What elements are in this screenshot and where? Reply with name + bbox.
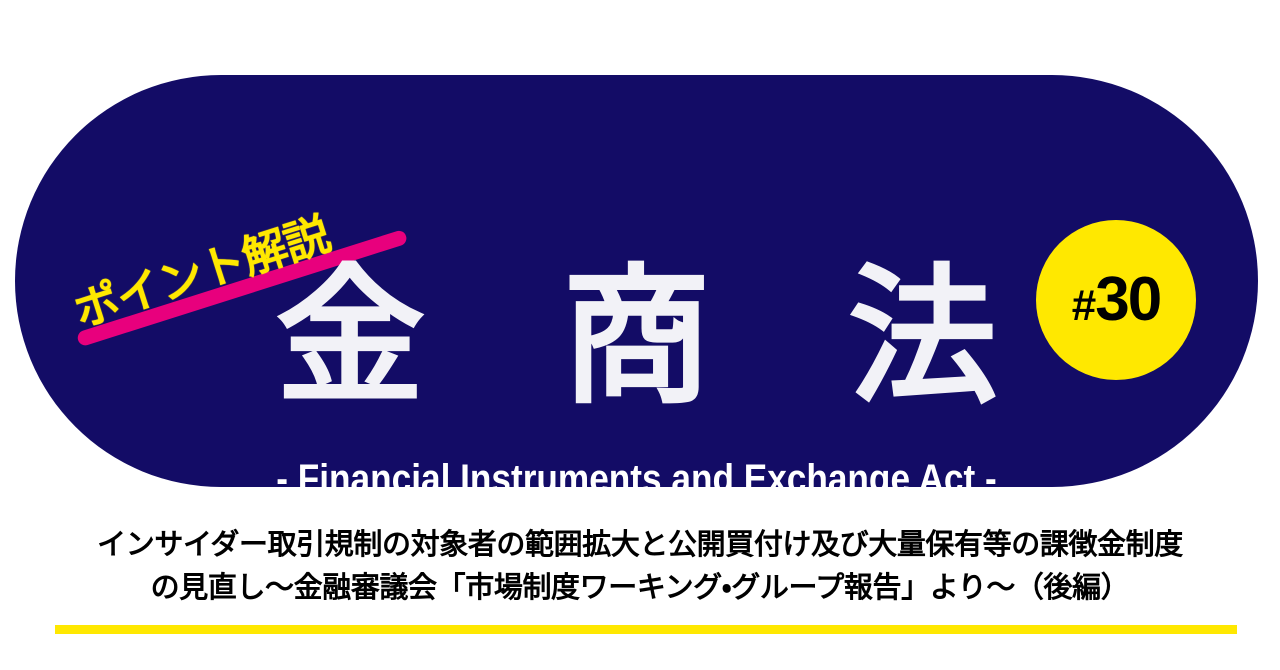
- slide-canvas: ポイント解説 金 商 法 - Financial Instruments and…: [0, 0, 1280, 670]
- issue-number-text: # 30: [1072, 269, 1160, 331]
- page-subtitle: - Financial Instruments and Exchange Act…: [90, 457, 1184, 487]
- hero-card: ポイント解説 金 商 法 - Financial Instruments and…: [15, 75, 1258, 487]
- issue-number-badge: # 30: [1036, 220, 1196, 380]
- yellow-underline-rule: [55, 625, 1237, 634]
- hash-symbol: #: [1072, 284, 1095, 328]
- issue-number-value: 30: [1095, 269, 1160, 331]
- caption-line-1: インサイダー取引規制の対象者の範囲拡大と公開買付け及び大量保有等の課徴金制度: [40, 523, 1240, 566]
- caption-line-2: の見直し〜金融審議会「市場制度ワーキング・グループ報告」より〜（後編）: [40, 566, 1240, 609]
- caption-block: インサイダー取引規制の対象者の範囲拡大と公開買付け及び大量保有等の課徴金制度 の…: [40, 523, 1240, 609]
